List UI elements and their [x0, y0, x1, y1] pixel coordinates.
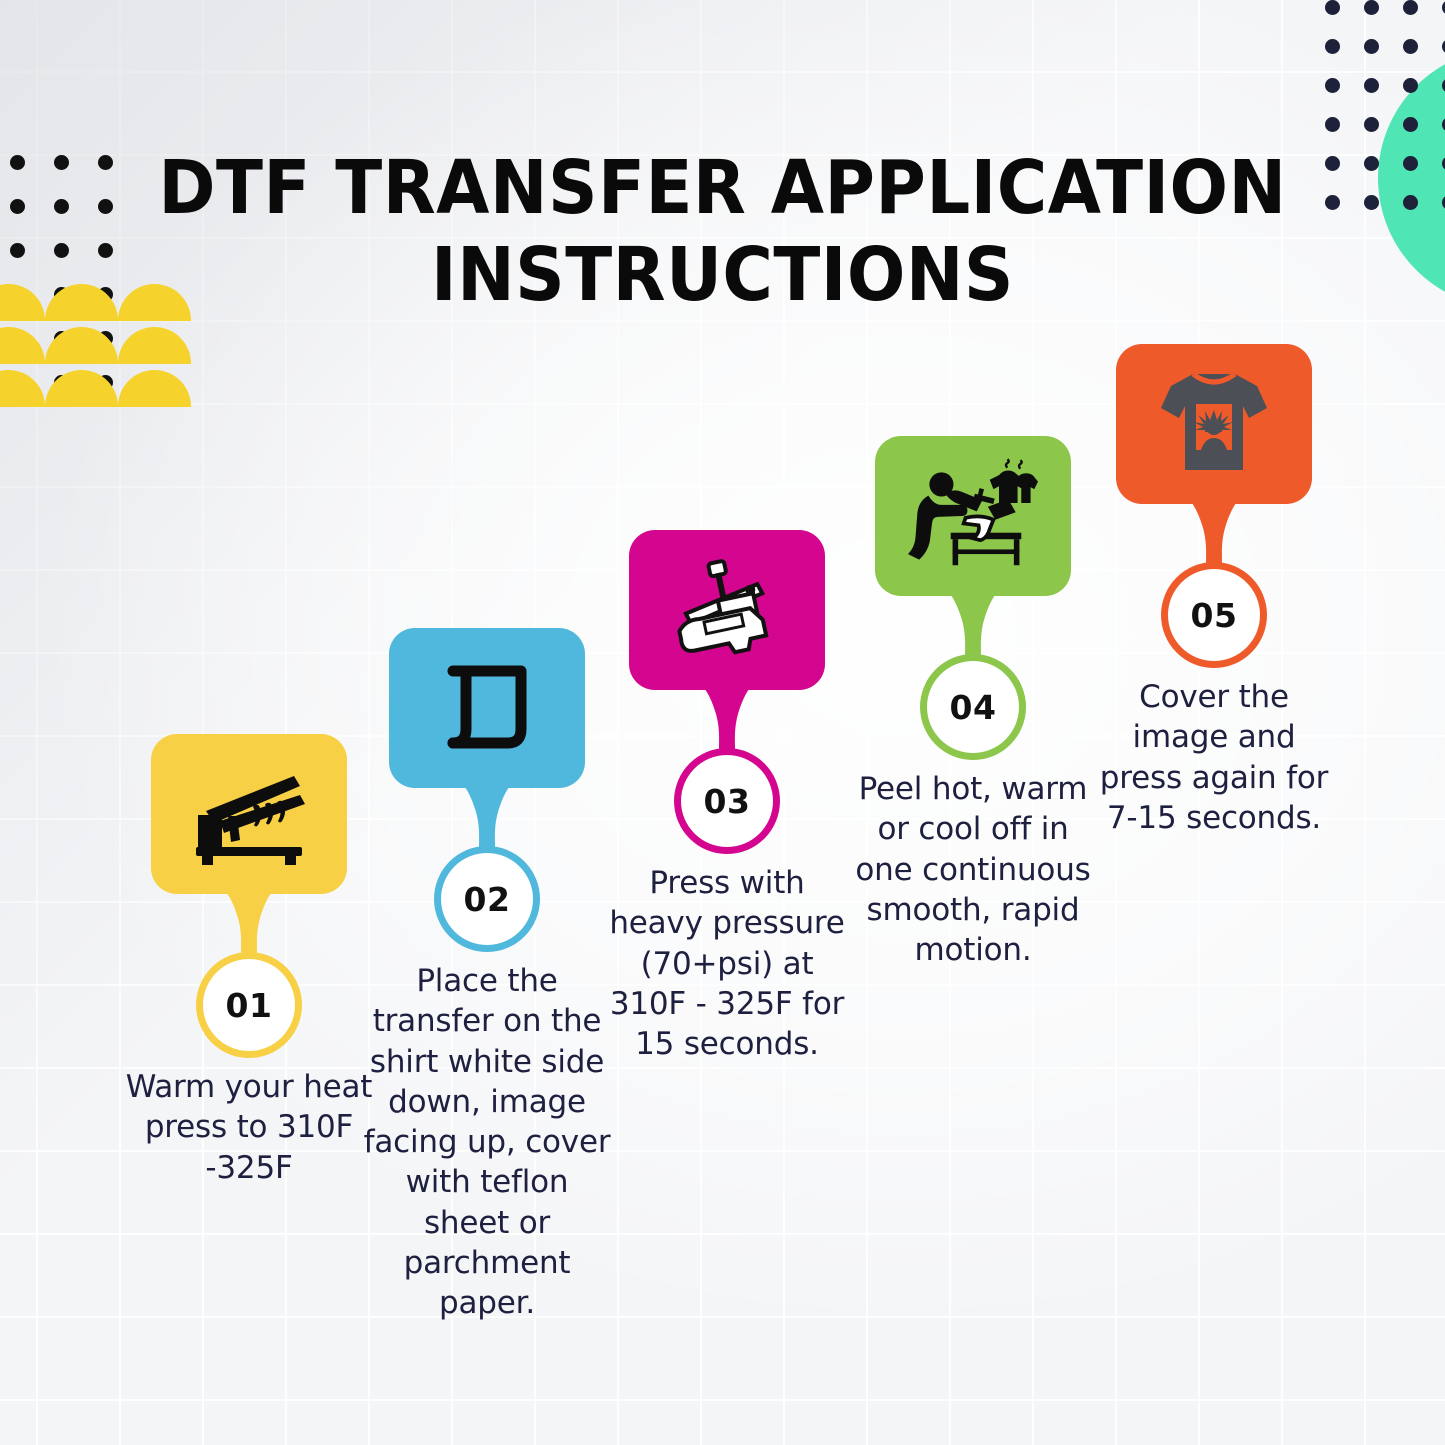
- steps-container: 01 Warm your heat press to 310F -325F: [0, 0, 1445, 1445]
- step-02-description: Place the transfer on the shirt white si…: [362, 961, 612, 1324]
- step-03-description: Press with heavy pressure (70+psi) at 31…: [602, 863, 852, 1064]
- heat-press-icon: [184, 754, 314, 874]
- step-05-description: Cover the image and press again for 7-15…: [1089, 677, 1339, 838]
- step-02-connector: [464, 786, 510, 848]
- step-05-number: 05: [1191, 596, 1238, 635]
- heat-press-machine-icon: [662, 550, 792, 670]
- transfer-sheet-icon: [422, 648, 552, 768]
- step-01-card[interactable]: [151, 734, 347, 894]
- step-04-connector: [950, 594, 996, 656]
- step-04-card[interactable]: [875, 436, 1071, 596]
- step-01-connector: [226, 892, 272, 954]
- step-01-number: 01: [226, 986, 273, 1025]
- step-02-card[interactable]: [389, 628, 585, 788]
- step-04[interactable]: 04 Peel hot, warm or cool off in one con…: [848, 436, 1098, 970]
- step-05[interactable]: 05 Cover the image and press again for 7…: [1089, 344, 1339, 838]
- step-05-number-badge: 05: [1168, 569, 1260, 661]
- step-03-number-badge: 03: [681, 755, 773, 847]
- infographic-page: DTF TRANSFER APPLICATION INSTRUCTIONS: [0, 0, 1445, 1445]
- step-01-number-badge: 01: [203, 959, 295, 1051]
- step-03-card[interactable]: [629, 530, 825, 690]
- step-02-number-badge: 02: [441, 853, 533, 945]
- step-05-connector: [1191, 502, 1237, 564]
- step-02-number: 02: [464, 880, 511, 919]
- step-04-description: Peel hot, warm or cool off in one contin…: [848, 769, 1098, 970]
- step-04-number: 04: [950, 688, 997, 727]
- step-01[interactable]: 01 Warm your heat press to 310F -325F: [124, 734, 374, 1188]
- step-01-description: Warm your heat press to 310F -325F: [124, 1067, 374, 1188]
- step-03[interactable]: 03 Press with heavy pressure (70+psi) at…: [602, 530, 852, 1064]
- printed-tshirt-icon: [1149, 364, 1279, 484]
- step-02[interactable]: 02 Place the transfer on the shirt white…: [362, 628, 612, 1324]
- step-04-number-badge: 04: [927, 661, 1019, 753]
- step-05-card[interactable]: [1116, 344, 1312, 504]
- step-03-number: 03: [704, 782, 751, 821]
- step-03-connector: [704, 688, 750, 750]
- person-peeling-transfer-icon: [908, 456, 1038, 576]
